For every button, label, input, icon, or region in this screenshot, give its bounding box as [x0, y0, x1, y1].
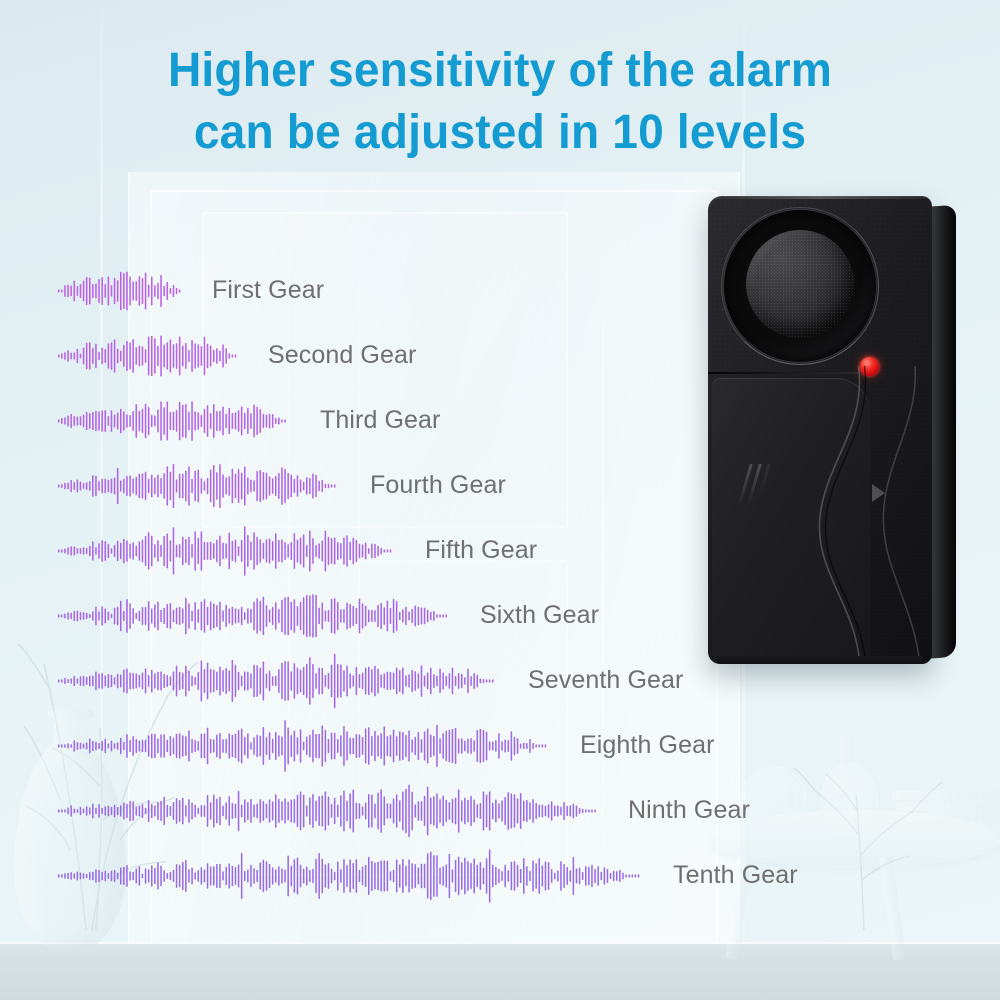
waveform-9 — [58, 780, 598, 842]
sensitivity-level-row: Ninth Gear — [0, 778, 1000, 843]
gear-label-2: Second Gear — [268, 341, 416, 370]
device-horizontal-seam — [708, 372, 858, 374]
headline: Higher sensitivity of the alarm can be a… — [0, 40, 1000, 164]
device-front-face — [708, 196, 932, 664]
waveform-2 — [58, 325, 238, 387]
siren-speaker-dome — [746, 230, 854, 338]
waveform-3 — [58, 390, 290, 452]
product-marketing-image: Higher sensitivity of the alarm can be a… — [0, 0, 1000, 1000]
grip-ridge-marks — [744, 464, 768, 504]
gear-label-9: Ninth Gear — [628, 796, 750, 825]
floor — [0, 944, 1000, 1000]
waveform-5 — [58, 520, 395, 582]
waveform-1 — [58, 260, 182, 322]
waveform-4 — [58, 455, 340, 517]
headline-line-2: can be adjusted in 10 levels — [20, 102, 980, 164]
gear-label-5: Fifth Gear — [425, 536, 537, 565]
waveform-6 — [58, 585, 450, 647]
gear-label-7: Seventh Gear — [528, 666, 683, 695]
gear-label-3: Third Gear — [320, 406, 440, 435]
sensitivity-level-row: Eighth Gear — [0, 713, 1000, 778]
baseboard — [0, 942, 1000, 952]
gear-label-6: Sixth Gear — [480, 601, 599, 630]
device-bottom-lip — [716, 656, 922, 664]
device-top-highlight — [714, 196, 926, 199]
battery-compartment-door — [712, 378, 870, 660]
waveform-7 — [58, 650, 498, 712]
gear-label-10: Tenth Gear — [673, 861, 798, 890]
waveform-10 — [58, 845, 643, 907]
sensitivity-level-row: Tenth Gear — [0, 843, 1000, 908]
gear-label-8: Eighth Gear — [580, 731, 715, 760]
waveform-8 — [58, 715, 550, 777]
gear-label-1: First Gear — [212, 276, 324, 305]
triangle-direction-marker — [872, 484, 885, 502]
red-led-indicator — [860, 357, 879, 376]
gear-label-4: Fourth Gear — [370, 471, 506, 500]
siren-speaker-ring — [724, 210, 876, 362]
headline-line-1: Higher sensitivity of the alarm — [20, 40, 980, 102]
door-window-alarm-unit — [708, 196, 956, 670]
